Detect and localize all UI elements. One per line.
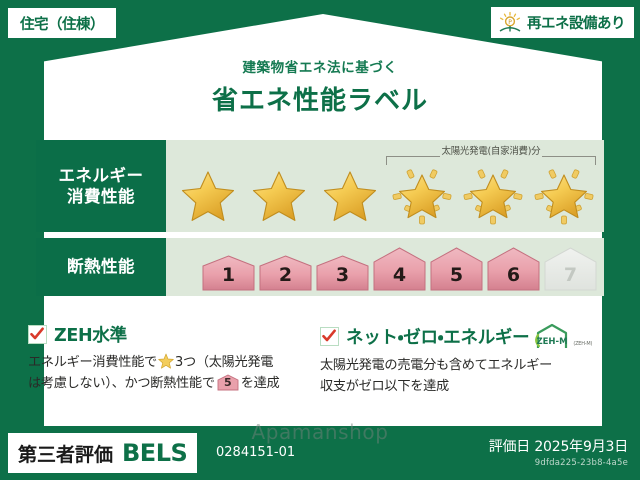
insulation-step-number: 4 [372,264,427,286]
footer-bar: 第三者評価 BELS 0284151-01 評価日 2025年9月3日 9dfd… [0,428,640,480]
insulation-step-number: 3 [315,264,370,286]
inline-grade-value: 5 [217,374,239,392]
insulation-step-number: 1 [201,264,256,286]
bels-chip: 第三者評価 BELS [8,433,197,473]
criterion-net-zero: ネット・ゼロ・エネルギー ZEH-M (ZEH-M) 太陽光発電の売電分も含めて… [320,322,612,398]
insulation-step-number: 2 [258,264,313,286]
solar-bracket-note: 太陽光発電(自家消費)分 [440,143,543,157]
performance-rows: エネルギー 消費性能 太陽光発電(自家消費)分 [36,140,604,302]
criterion-zeh-title: ZEH水準 [54,322,127,347]
insulation-scale: 1 2 3 [166,238,598,296]
insulation-step-number: 6 [486,264,541,286]
inline-star-icon [158,353,174,369]
star-filled [248,166,310,226]
energy-label-root: 住宅（住棟） P 再エネ設備あり 建築物省エネ法に基づく 省エネ性能ラベ [0,0,640,480]
zeh-m-logo-icon: ZEH-M (ZEH-M) [532,322,592,350]
energy-star-rating [172,164,600,228]
insulation-step: 3 [315,255,370,291]
insulation-step: 4 [372,247,427,291]
zeh-body-part3: は考慮しない）、かつ断熱性能で [28,376,215,391]
net-zero-body-line2: 収支がゼロ以下を達成 [320,379,449,394]
renewable-badge-label: 再エネ設備あり [527,12,625,33]
insulation-performance-row: 断熱性能 [36,238,604,296]
energy-performance-row: エネルギー 消費性能 太陽光発電(自家消費)分 [36,140,604,232]
evaluation-info: 評価日 2025年9月3日 9dfda225-23b8-4a5e [489,436,628,468]
insulation-step-number: 7 [543,264,598,286]
criterion-zeh: ZEH水準 エネルギー消費性能で3つ（太陽光発電 は考慮しない）、かつ断熱性能で… [28,322,320,398]
evaluation-uid: 9dfda225-23b8-4a5e [489,458,628,468]
insulation-performance-body: 1 2 3 [166,238,604,296]
zeh-body-part2: 3つ（太陽光発電 [175,355,273,370]
evaluation-date: 評価日 2025年9月3日 [489,436,628,456]
net-zero-body-line1: 太陽光発電の売電分も含めてエネルギー [320,358,552,373]
zeh-body-part1: エネルギー消費性能で [28,355,157,370]
housing-type-chip: 住宅（住棟） [8,8,116,38]
svg-text:P: P [508,19,512,26]
criterion-zeh-header: ZEH水準 [28,322,308,347]
page-title: 省エネ性能ラベル [0,80,640,117]
insulation-step-inactive: 7 [543,247,598,291]
star-filled [319,166,381,226]
insulation-step: 6 [486,247,541,291]
insulation-step: 1 [201,255,256,291]
sun-icon: P [497,11,523,35]
star-solar [533,166,595,226]
criteria-section: ZEH水準 エネルギー消費性能で3つ（太陽光発電 は考慮しない）、かつ断熱性能で… [28,322,612,398]
energy-performance-body: 太陽光発電(自家消費)分 [166,140,604,232]
insulation-step: 2 [258,255,313,291]
criterion-net-zero-header: ネット・ゼロ・エネルギー ZEH-M (ZEH-M) [320,322,600,350]
insulation-label-text: 断熱性能 [67,256,135,277]
insulation-step: 5 [429,247,484,291]
energy-performance-label: エネルギー 消費性能 [36,140,166,232]
checkbox-checked-icon [320,327,339,346]
housing-type-label: 住宅（住棟） [20,13,104,34]
bels-id: 0284151-01 [216,445,295,460]
bels-logo-text: BELS [122,439,187,467]
star-solar [391,166,453,226]
zeh-body-part4: を達成 [241,376,280,391]
zeh-m-logo-subtext: (ZEH-M) [573,341,592,350]
energy-label-line1: エネルギー [59,165,144,186]
third-party-label: 第三者評価 [18,440,113,467]
renewable-equipment-badge: P 再エネ設備あり [491,7,634,38]
heading-subtitle: 建築物省エネ法に基づく [0,56,640,76]
criterion-net-zero-body: 太陽光発電の売電分も含めてエネルギー 収支がゼロ以下を達成 [320,355,600,398]
svg-text:ZEH-M: ZEH-M [537,337,568,347]
inline-grade-badge: 5 [217,374,239,391]
insulation-step-number: 5 [429,264,484,286]
star-filled [177,166,239,226]
insulation-performance-label: 断熱性能 [36,238,166,296]
star-solar [462,166,524,226]
energy-label-line2: 消費性能 [67,186,135,207]
criterion-net-zero-title: ネット・ゼロ・エネルギー [346,324,529,349]
page-heading: 建築物省エネ法に基づく 省エネ性能ラベル [0,56,640,117]
criterion-zeh-body: エネルギー消費性能で3つ（太陽光発電 は考慮しない）、かつ断熱性能で5を達成 [28,352,308,395]
checkbox-checked-icon [28,325,47,344]
